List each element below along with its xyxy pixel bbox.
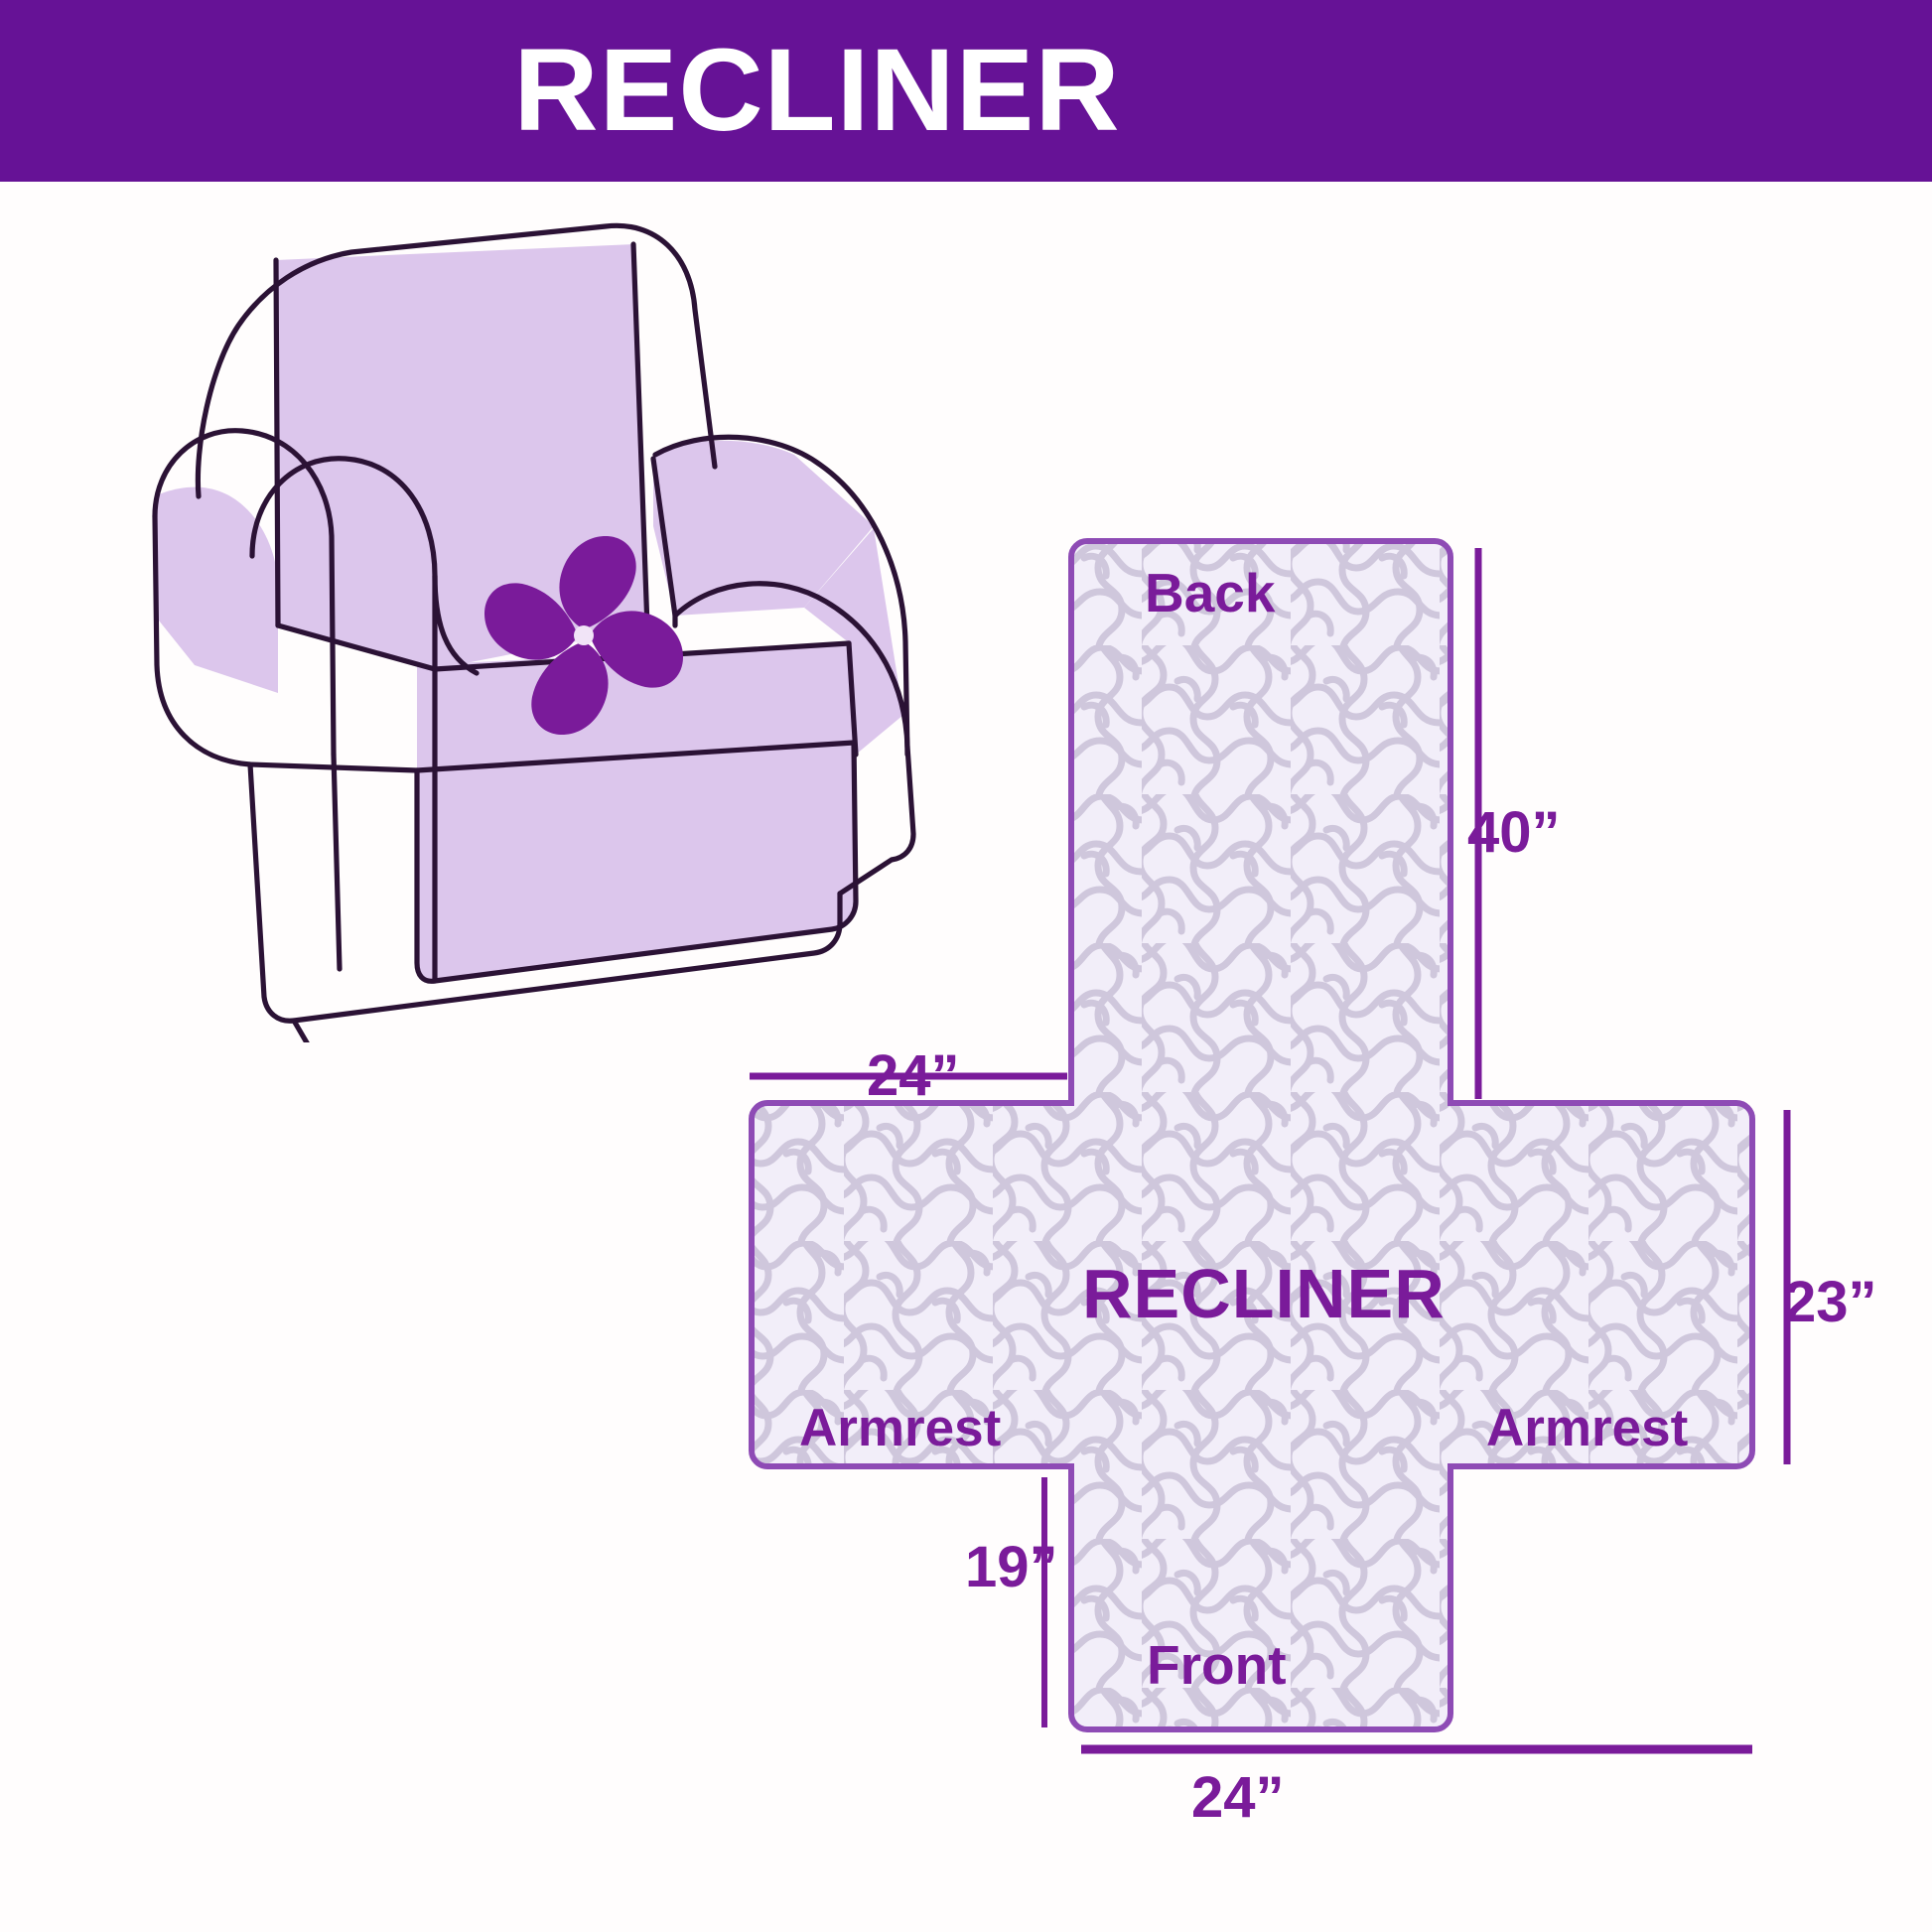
dimension-label-back-height: 40”	[1467, 804, 1561, 862]
dimension-label-armrest-height: 23”	[1784, 1274, 1877, 1331]
section-label-armrest-right: Armrest	[1486, 1402, 1688, 1454]
header-band: RECLINER	[0, 0, 1932, 182]
infographic-canvas: RECLINER	[0, 0, 1932, 1932]
dimension-label-front-height: 19”	[965, 1539, 1058, 1596]
page-title: RECLINER	[0, 28, 1783, 153]
section-label-back: Back	[1145, 566, 1275, 621]
slipcover-cross-diagram	[695, 496, 1932, 1837]
dimension-label-armrest-width: 24”	[867, 1047, 960, 1105]
section-label-armrest-left: Armrest	[799, 1402, 1001, 1454]
cross-shape	[752, 541, 1752, 1729]
section-label-front: Front	[1147, 1638, 1287, 1693]
dimension-label-front-width: 24”	[1191, 1769, 1285, 1827]
diagram-center-label: RECLINER	[1082, 1259, 1446, 1328]
